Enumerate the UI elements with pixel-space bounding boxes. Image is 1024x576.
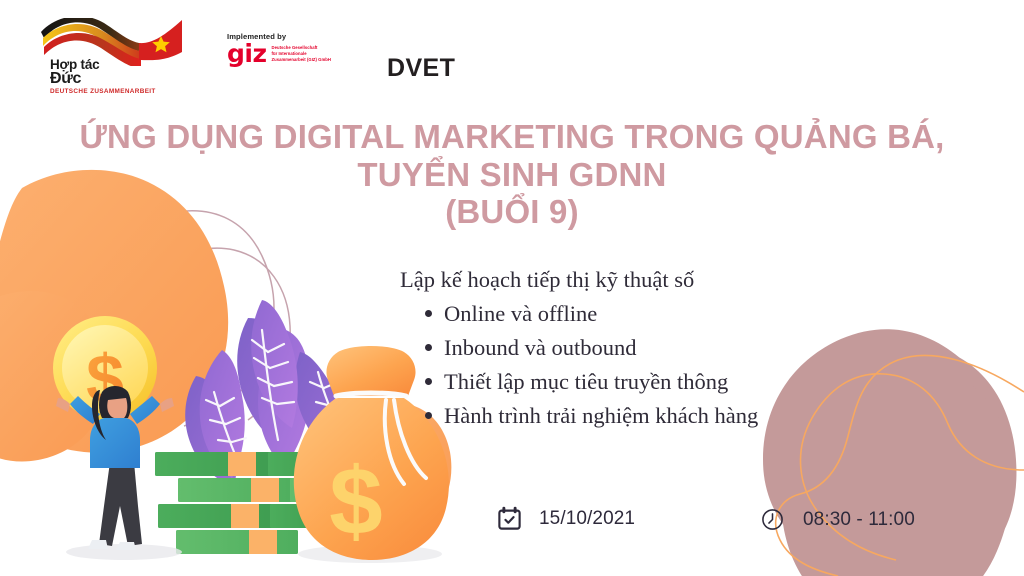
cooperation-line3: DEUTSCHE ZUSAMMENARBEIT <box>50 89 156 96</box>
giz-subtitle-line3: Zusammenarbeit (GIZ) GmbH <box>272 57 331 63</box>
logo-bar: Hợp tác Đức DEUTSCHE ZUSAMMENARBEIT Impl… <box>32 18 455 100</box>
green-cash-stack <box>155 452 336 554</box>
mauve-outline-curve <box>0 211 274 426</box>
orange-outline-curve <box>776 355 1024 576</box>
svg-text:$: $ <box>86 341 124 417</box>
list-item: Inbound và outbound <box>400 331 758 365</box>
cooperation-line2: Đức <box>50 71 156 87</box>
title-line-2: TUYỂN SINH GDNN <box>0 156 1024 194</box>
content-bullet-list: Online và offline Inbound và outbound Th… <box>400 297 758 434</box>
purple-leaves-plant <box>185 300 350 486</box>
rose-blob <box>763 329 1016 576</box>
orange-outline-curve-2 <box>801 374 1024 560</box>
svg-text:$: $ <box>329 448 382 555</box>
content-block: Lập kế hoạch tiếp thị kỹ thuật số Online… <box>400 266 758 434</box>
giz-wordmark: giz <box>227 44 267 65</box>
title-line-3: (BUỔI 9) <box>0 193 1024 231</box>
content-lead: Lập kế hoạch tiếp thị kỹ thuật số <box>400 266 758 295</box>
calendar-check-icon <box>496 505 523 532</box>
gold-coin-dollar: $ <box>53 316 157 420</box>
list-item: Hành trình trải nghiệm khách hàng <box>400 399 758 433</box>
clock-icon <box>760 507 785 532</box>
german-vietnamese-cooperation-logo: Hợp tác Đức DEUTSCHE ZUSAMMENARBEIT <box>32 18 182 100</box>
presentation-slide: $ $ <box>0 0 1024 576</box>
list-item: Thiết lập mục tiêu truyền thông <box>400 365 758 399</box>
list-item: Online và offline <box>400 297 758 331</box>
event-date-value: 15/10/2021 <box>539 508 635 530</box>
giz-subtitle: Deutsche Gesellschaft für Internationale… <box>272 45 331 62</box>
event-date: 15/10/2021 <box>496 505 635 532</box>
dvet-logo: DVET <box>387 54 455 83</box>
giz-logo: Implemented by giz Deutsche Gesellschaft… <box>227 32 345 65</box>
event-time-value: 08:30 - 11:00 <box>803 509 915 531</box>
page-title: ỨNG DỤNG DIGITAL MARKETING TRONG QUẢNG B… <box>0 118 1024 231</box>
mauve-outline-curve-2 <box>0 248 290 420</box>
event-time: 08:30 - 11:00 <box>760 507 915 532</box>
cooperation-wordmark: Hợp tác Đức DEUTSCHE ZUSAMMENARBEIT <box>50 58 156 96</box>
title-line-1: ỨNG DỤNG DIGITAL MARKETING TRONG QUẢNG B… <box>0 118 1024 156</box>
woman-lifting-coin <box>56 386 182 560</box>
